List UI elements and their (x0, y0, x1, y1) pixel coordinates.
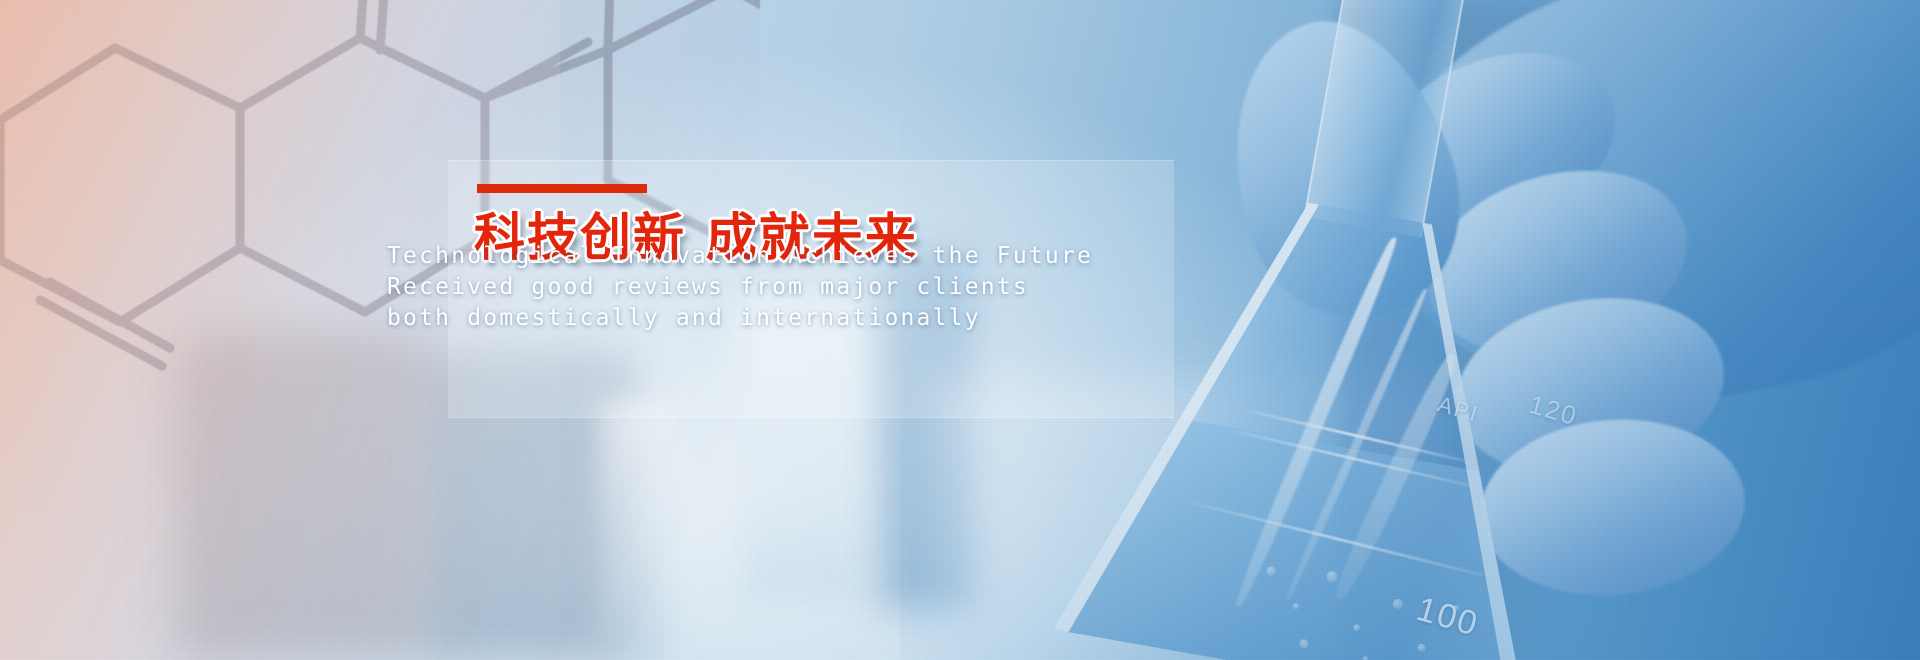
banner-subtitle-line-3: both domestically and internationally (387, 303, 1093, 334)
banner-subtitle-line-2: Received good reviews from major clients (387, 272, 1093, 303)
red-accent-bar (477, 184, 647, 193)
banner-subtitle-group: Technological Innovation Achieves the Fu… (387, 241, 1093, 334)
hero-banner: API 120 100 (0, 0, 1920, 660)
banner-subtitle-line-1: Technological Innovation Achieves the Fu… (387, 241, 1093, 272)
